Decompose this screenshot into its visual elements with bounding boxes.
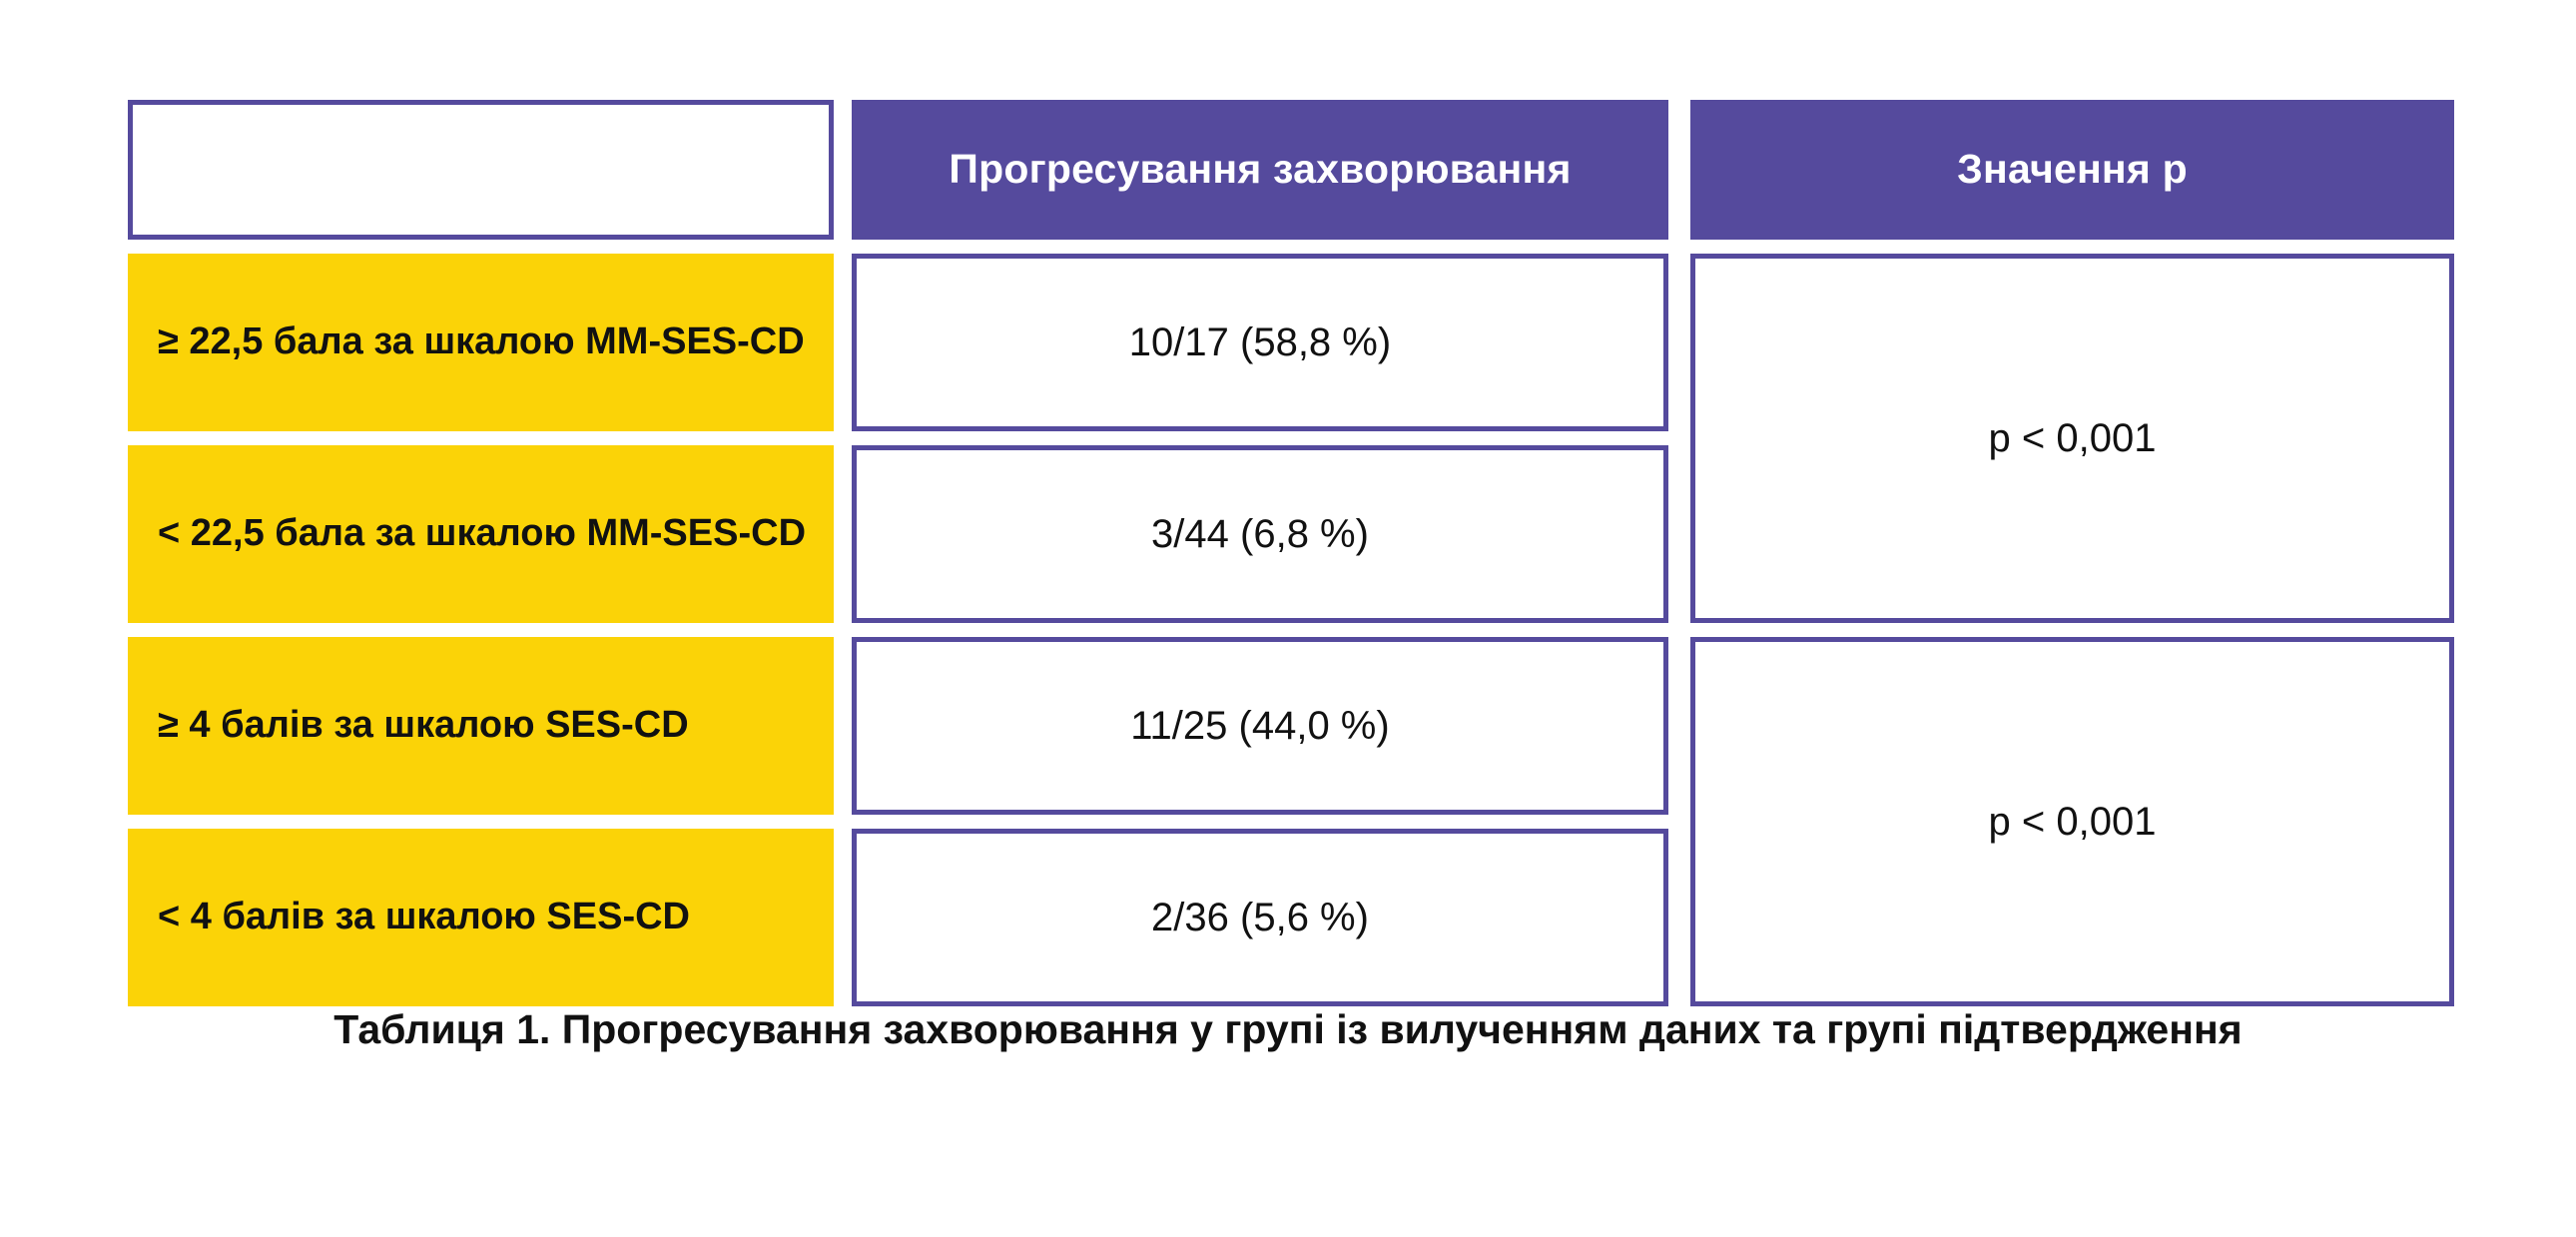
- table-grid: Прогресування захворювання Значення p ≥ …: [128, 100, 2454, 1006]
- table-cell-progression: 10/17 (58,8 %): [852, 254, 1668, 431]
- table-header-progression: Прогресування захворювання: [852, 100, 1668, 240]
- table-row-label: ≥ 22,5 бала за шкалою MM-SES-CD: [128, 254, 834, 431]
- table-figure-page: Прогресування захворювання Значення p ≥ …: [0, 0, 2576, 1237]
- table-cell-progression: 3/44 (6,8 %): [852, 445, 1668, 623]
- table-row-label: < 4 балів за шкалою SES-CD: [128, 829, 834, 1006]
- table-cell-pvalue: p < 0,001: [1690, 637, 2454, 1006]
- table-caption: Таблиця 1. Прогресування захворювання у …: [290, 1003, 2286, 1056]
- table-cell-progression: 11/25 (44,0 %): [852, 637, 1668, 815]
- data-table: Прогресування захворювання Значення p ≥ …: [128, 100, 2454, 1006]
- table-row-label: ≥ 4 балів за шкалою SES-CD: [128, 637, 834, 815]
- table-header-pvalue: Значення p: [1690, 100, 2454, 240]
- table-header-corner-cell: [128, 100, 834, 240]
- table-row-label: < 22,5 бала за шкалою MM-SES-CD: [128, 445, 834, 623]
- table-cell-pvalue: p < 0,001: [1690, 254, 2454, 623]
- table-cell-progression: 2/36 (5,6 %): [852, 829, 1668, 1006]
